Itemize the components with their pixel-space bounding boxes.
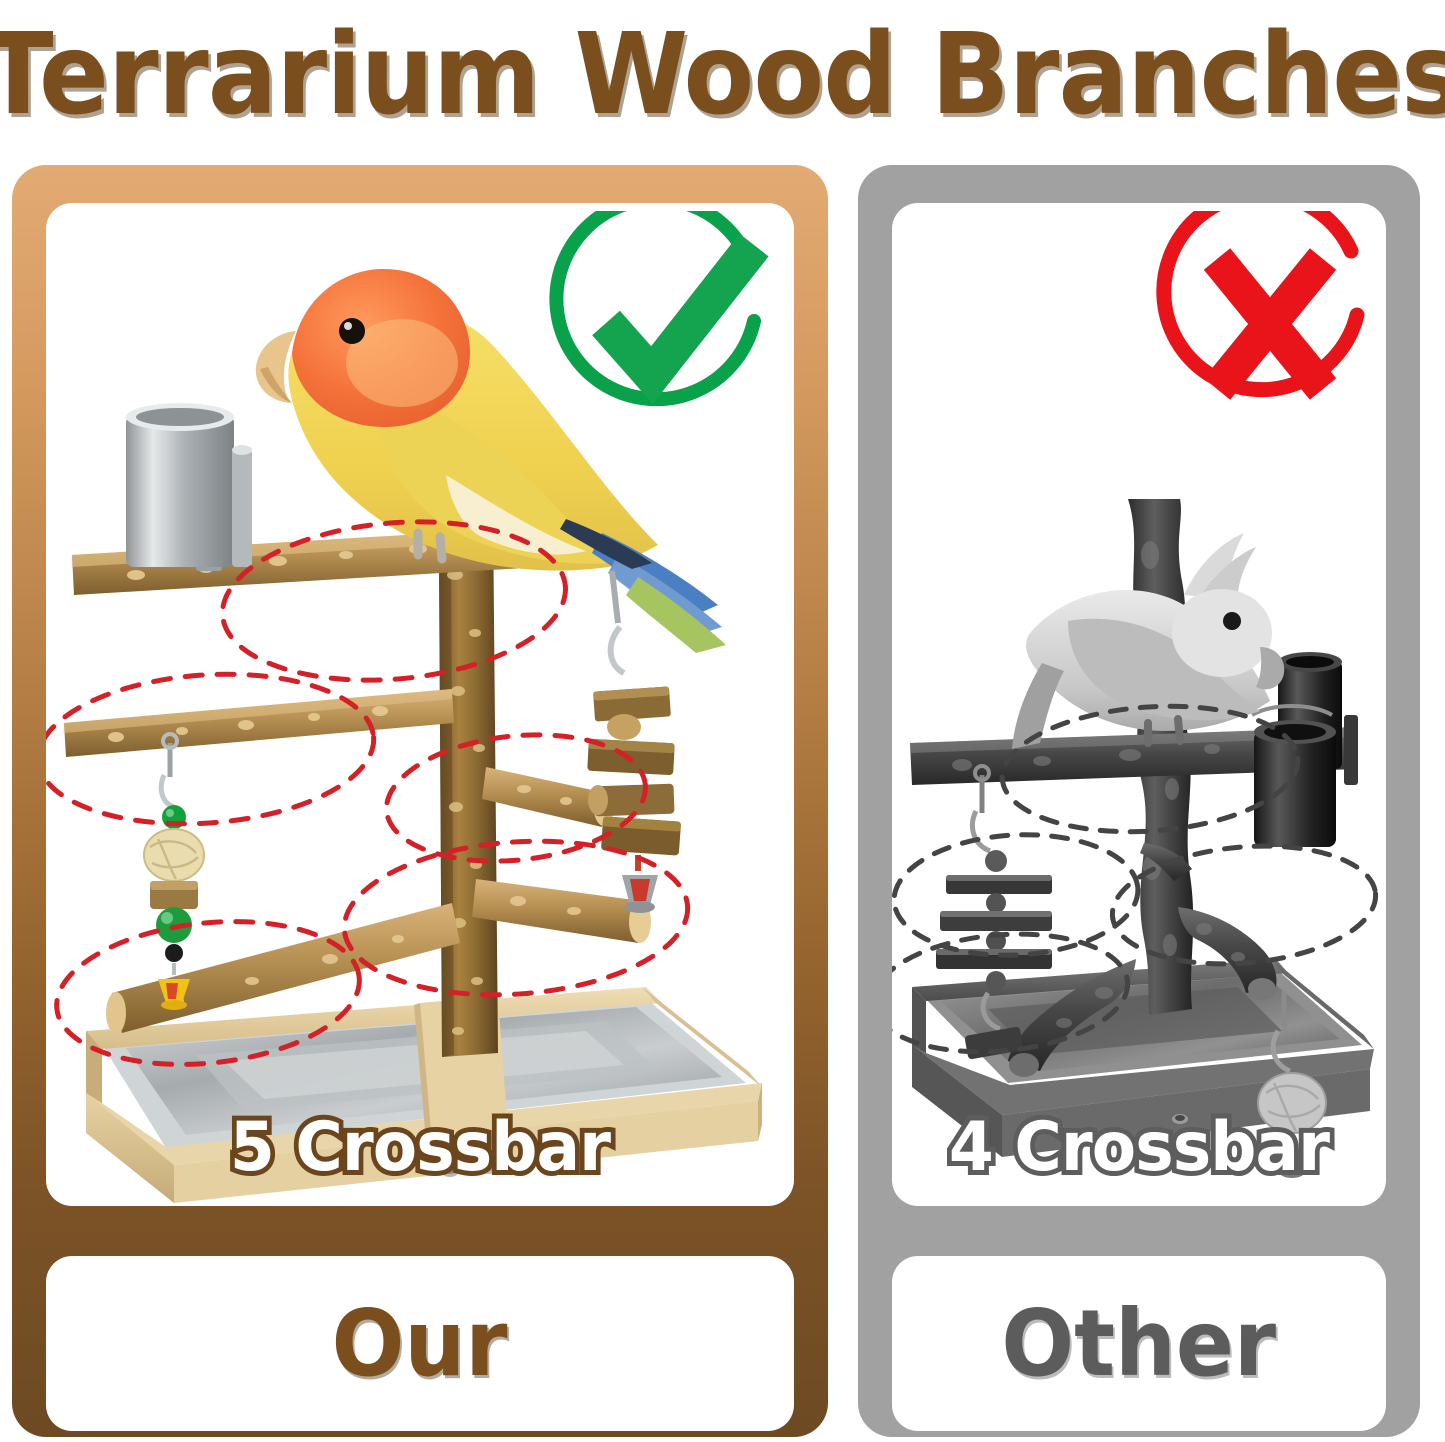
other-footer-label: Other [1002,1298,1277,1390]
title-bar: Terrarium Wood Branches [0,0,1445,150]
our-product-card: 5 Crossbar [46,203,794,1206]
comparison-panel-other: 4 Crossbar Other [858,165,1420,1437]
our-crossbar-4 [472,879,651,943]
other-product-card: 4 Crossbar [892,203,1386,1206]
our-crossbar-caption: 5 Crossbar [65,1114,776,1182]
other-product-illustration [892,203,1386,1206]
other-footer-card: Other [892,1256,1386,1431]
our-footer-label: Our [332,1298,508,1390]
our-feeding-cups [126,403,252,571]
our-perch-stand-svg [46,203,794,1206]
other-crossbar-caption: 4 Crossbar [904,1114,1373,1182]
our-product-illustration [46,203,794,1206]
our-crossbar-2 [64,689,454,757]
our-footer-card: Our [46,1256,794,1431]
our-lovebird [256,269,732,653]
page-title: Terrarium Wood Branches [0,19,1445,131]
comparison-panel-our: 5 Crossbar Our [12,165,828,1437]
other-annotation-2 [892,829,1141,962]
our-bead-bell-toy [144,734,204,1010]
other-perch-stand-svg [892,203,1386,1206]
